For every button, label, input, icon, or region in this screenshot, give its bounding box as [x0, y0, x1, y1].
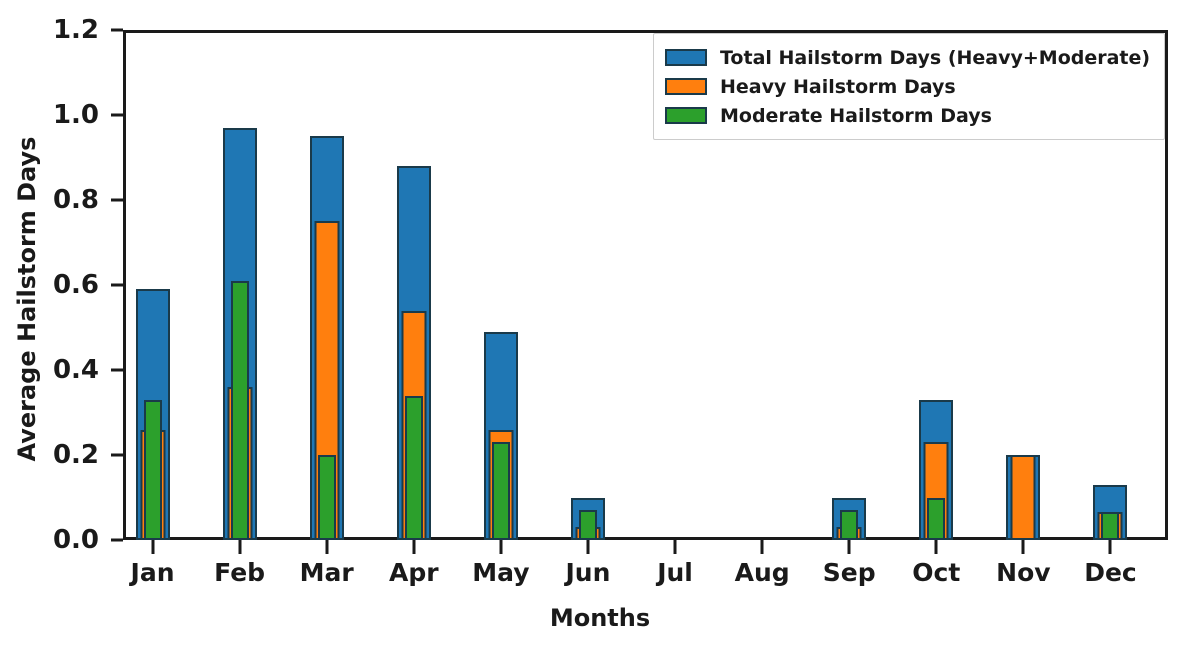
- x-tick-mark: [848, 540, 851, 554]
- bar-moderate-dec: [1101, 512, 1119, 540]
- x-tick-mark: [761, 540, 764, 554]
- legend-label-moderate: Moderate Hailstorm Days: [720, 105, 992, 127]
- x-tick-label-jun: Jun: [566, 558, 611, 587]
- x-tick-label-may: May: [472, 558, 529, 587]
- legend-swatch-heavy: [665, 78, 707, 95]
- x-axis-label: Months: [0, 604, 1200, 632]
- x-tick-label-nov: Nov: [996, 558, 1050, 587]
- bar-moderate-feb: [231, 281, 249, 540]
- x-tick-label-mar: Mar: [300, 558, 354, 587]
- x-tick-mark: [151, 540, 154, 554]
- bar-moderate-jan: [144, 400, 162, 540]
- x-tick-label-feb: Feb: [214, 558, 265, 587]
- bar-moderate-oct: [927, 498, 945, 541]
- bar-moderate-sep: [840, 510, 858, 540]
- x-tick-label-sep: Sep: [823, 558, 876, 587]
- x-tick-mark: [935, 540, 938, 554]
- x-tick-mark: [674, 540, 677, 554]
- x-tick-label-aug: Aug: [735, 558, 790, 587]
- legend-swatch-total: [665, 49, 707, 66]
- legend-item-heavy: Heavy Hailstorm Days: [665, 72, 1150, 101]
- bar-moderate-jun: [579, 510, 597, 540]
- x-tick-label-oct: Oct: [912, 558, 960, 587]
- bar-moderate-mar: [318, 455, 336, 540]
- legend-swatch-moderate: [665, 107, 707, 124]
- hailstorm-days-bar-chart: Average Hailstorm Days 0.00.20.40.60.81.…: [0, 0, 1200, 647]
- x-tick-mark: [412, 540, 415, 554]
- x-tick-mark: [325, 540, 328, 554]
- x-tick-mark: [238, 540, 241, 554]
- x-tick-label-jul: Jul: [657, 558, 693, 587]
- x-tick-label-apr: Apr: [389, 558, 439, 587]
- x-tick-label-dec: Dec: [1084, 558, 1137, 587]
- legend-label-total: Total Hailstorm Days (Heavy+Moderate): [720, 47, 1150, 69]
- legend-item-total: Total Hailstorm Days (Heavy+Moderate): [665, 43, 1150, 72]
- x-tick-mark: [1022, 540, 1025, 554]
- legend-item-moderate: Moderate Hailstorm Days: [665, 101, 1150, 130]
- x-tick-mark: [1109, 540, 1112, 554]
- x-tick-label-jan: Jan: [131, 558, 175, 587]
- legend-label-heavy: Heavy Hailstorm Days: [720, 76, 956, 98]
- x-tick-mark: [586, 540, 589, 554]
- bar-moderate-apr: [405, 396, 423, 541]
- bar-heavy-nov: [1011, 455, 1036, 540]
- x-tick-mark: [499, 540, 502, 554]
- chart-legend: Total Hailstorm Days (Heavy+Moderate)Hea…: [653, 33, 1165, 140]
- bar-moderate-may: [492, 442, 510, 540]
